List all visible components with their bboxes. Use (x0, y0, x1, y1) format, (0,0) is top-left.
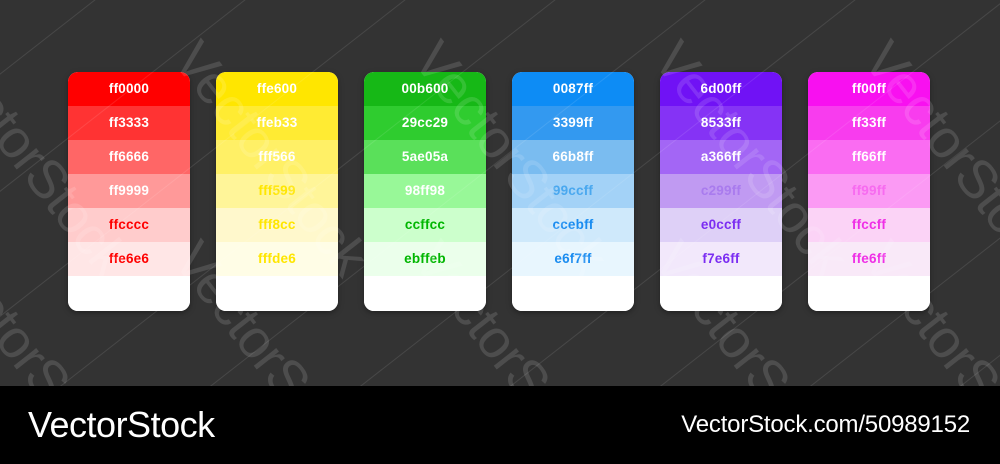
color-swatch[interactable]: fff566 (216, 140, 338, 174)
color-palette-board: ff0000ff3333ff6666ff9999ffccccffe6e6ffe6… (68, 72, 930, 311)
color-swatch[interactable]: ffe600 (216, 72, 338, 106)
color-swatch-hex-label: ccebff (553, 218, 594, 232)
color-swatch-hex-label: ccffcc (405, 218, 445, 232)
color-swatch-hex-label: ffeb33 (257, 116, 298, 130)
color-swatch-hex-label: ff0000 (109, 82, 149, 96)
color-swatch[interactable]: 5ae05a (364, 140, 486, 174)
color-swatch[interactable]: fff599 (216, 174, 338, 208)
footer-url-label: VectorStock.com/50989152 (681, 411, 970, 439)
palette-card-yellow: ffe600ffeb33fff566fff599fff8ccfffde6 (216, 72, 338, 311)
color-swatch-hex-label: ffccff (852, 218, 886, 232)
color-swatch-hex-label: 99ccff (553, 184, 593, 198)
palette-card-footer-area (660, 276, 782, 311)
color-swatch-hex-label: 0087ff (553, 82, 593, 96)
color-swatch-hex-label: ff9999 (109, 184, 149, 198)
palette-card-red: ff0000ff3333ff6666ff9999ffccccffe6e6 (68, 72, 190, 311)
color-swatch-hex-label: e0ccff (701, 218, 741, 232)
color-swatch[interactable]: 3399ff (512, 106, 634, 140)
color-swatch-hex-label: ffe6e6 (109, 252, 149, 266)
color-swatch[interactable]: a366ff (660, 140, 782, 174)
palette-card-footer-area (216, 276, 338, 311)
color-swatch-hex-label: ff3333 (109, 116, 149, 130)
color-swatch[interactable]: 66b8ff (512, 140, 634, 174)
color-swatch-hex-label: ff99ff (852, 184, 886, 198)
color-swatch[interactable]: e0ccff (660, 208, 782, 242)
color-swatch[interactable]: fff8cc (216, 208, 338, 242)
footer-brand-logo: VectorStock (28, 404, 215, 446)
color-swatch-hex-label: fff8cc (258, 218, 295, 232)
color-swatch[interactable]: ccebff (512, 208, 634, 242)
color-swatch-hex-label: 66b8ff (553, 150, 594, 164)
palette-card-green: 00b60029cc295ae05a98ff98ccffccebffeb (364, 72, 486, 311)
color-swatch-hex-label: ebffeb (404, 252, 446, 266)
palette-card-purple: 6d00ff8533ffa366ffc299ffe0ccfff7e6ff (660, 72, 782, 311)
palette-card-footer-area (808, 276, 930, 311)
color-swatch-hex-label: ff66ff (852, 150, 886, 164)
palette-card-footer-area (364, 276, 486, 311)
color-swatch-hex-label: 8533ff (701, 116, 741, 130)
color-swatch-hex-label: 29cc29 (402, 116, 448, 130)
color-swatch[interactable]: ffccff (808, 208, 930, 242)
color-swatch[interactable]: ffe6ff (808, 242, 930, 276)
footer-bar: VectorStock VectorStock.com/50989152 (0, 386, 1000, 464)
color-swatch[interactable]: 0087ff (512, 72, 634, 106)
color-swatch-hex-label: 98ff98 (405, 184, 445, 198)
color-swatch[interactable]: 98ff98 (364, 174, 486, 208)
color-swatch[interactable]: e6f7ff (512, 242, 634, 276)
color-swatch-hex-label: f7e6ff (702, 252, 739, 266)
color-swatch-hex-label: e6f7ff (554, 252, 591, 266)
color-swatch[interactable]: 29cc29 (364, 106, 486, 140)
color-swatch[interactable]: 99ccff (512, 174, 634, 208)
color-swatch-hex-label: ffe600 (257, 82, 297, 96)
color-swatch[interactable]: ff00ff (808, 72, 930, 106)
color-swatch-hex-label: ffe6ff (852, 252, 886, 266)
color-swatch-hex-label: 6d00ff (701, 82, 742, 96)
color-swatch-hex-label: ff00ff (852, 82, 886, 96)
color-swatch[interactable]: ff0000 (68, 72, 190, 106)
color-swatch-hex-label: 3399ff (553, 116, 593, 130)
color-swatch[interactable]: ffcccc (68, 208, 190, 242)
color-swatch[interactable]: fffde6 (216, 242, 338, 276)
color-swatch-hex-label: fffde6 (258, 252, 296, 266)
palette-card-blue: 0087ff3399ff66b8ff99ccffccebffe6f7ff (512, 72, 634, 311)
color-swatch-hex-label: 00b600 (402, 82, 449, 96)
color-swatch[interactable]: ff99ff (808, 174, 930, 208)
color-swatch-hex-label: ff6666 (109, 150, 149, 164)
color-swatch[interactable]: ffeb33 (216, 106, 338, 140)
color-swatch-hex-label: a366ff (701, 150, 741, 164)
color-swatch[interactable]: ffe6e6 (68, 242, 190, 276)
color-swatch[interactable]: f7e6ff (660, 242, 782, 276)
color-swatch-hex-label: ffcccc (109, 218, 149, 232)
color-swatch-hex-label: fff566 (258, 150, 295, 164)
color-swatch[interactable]: c299ff (660, 174, 782, 208)
watermark-diagonal-line (960, 0, 1000, 386)
palette-card-footer-area (512, 276, 634, 311)
color-swatch-hex-label: ff33ff (852, 116, 886, 130)
color-swatch[interactable]: ff33ff (808, 106, 930, 140)
color-swatch-hex-label: 5ae05a (402, 150, 448, 164)
color-swatch[interactable]: ff66ff (808, 140, 930, 174)
palette-card-footer-area (68, 276, 190, 311)
color-swatch[interactable]: ebffeb (364, 242, 486, 276)
color-swatch[interactable]: ff3333 (68, 106, 190, 140)
color-swatch[interactable]: 00b600 (364, 72, 486, 106)
color-swatch[interactable]: ff9999 (68, 174, 190, 208)
color-swatch[interactable]: 6d00ff (660, 72, 782, 106)
color-swatch[interactable]: ff6666 (68, 140, 190, 174)
color-swatch-hex-label: c299ff (701, 184, 741, 198)
color-swatch[interactable]: 8533ff (660, 106, 782, 140)
color-swatch[interactable]: ccffcc (364, 208, 486, 242)
palette-card-magenta: ff00ffff33ffff66ffff99ffffccffffe6ff (808, 72, 930, 311)
color-swatch-hex-label: fff599 (258, 184, 295, 198)
